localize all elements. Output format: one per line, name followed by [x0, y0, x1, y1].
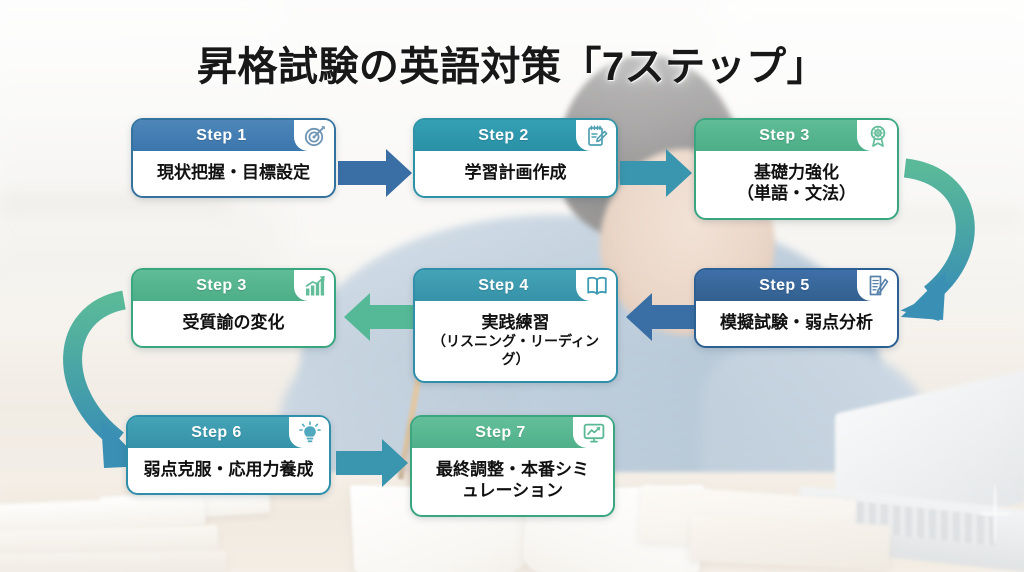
step-card-body: 現状把握・目標設定 — [133, 151, 334, 196]
infographic-canvas: 昇格試験の英語対策「7ステップ」 — [0, 0, 1024, 572]
step-title: 現状把握・目標設定 — [141, 162, 326, 183]
step-card-header: Step 3 — [696, 120, 897, 151]
step-card-body: 模擬試験・弱点分析 — [696, 301, 897, 346]
step-card-step-6[interactable]: Step 6 弱点克服・応用力養成 — [126, 415, 331, 495]
bar-chart-growth-icon — [302, 273, 328, 299]
ribbon-award-icon — [865, 123, 891, 149]
step-label: Step 2 — [478, 127, 528, 145]
step-title: 弱点克服・応用力養成 — [136, 459, 321, 480]
step-subtitle: ュレーション — [420, 480, 605, 501]
step-card-body: 実践練習 （リスニング・リーディング） — [415, 301, 616, 381]
monitor-chart-icon — [581, 420, 607, 446]
step-card-step-1[interactable]: Step 1 現状把握・目標設定 — [131, 118, 336, 198]
step-card-step-7[interactable]: Step 7 最終調整・本番シミ ュレーション — [410, 415, 615, 517]
step-card-header: Step 1 — [133, 120, 334, 151]
step-card-step-2[interactable]: Step 2 学習計画作成 — [413, 118, 618, 198]
open-book-icon — [584, 273, 610, 299]
step-label: Step 7 — [475, 424, 525, 442]
step-card-body: 最終調整・本番シミ ュレーション — [412, 448, 613, 515]
step-card-header: Step 6 — [128, 417, 329, 448]
step-card-body: 受質諭の変化 — [133, 301, 334, 346]
step-label: Step 4 — [478, 277, 528, 295]
step-card-step-5[interactable]: Step 5 模擬試験・弱点分析 — [694, 268, 899, 348]
step-label: Step 6 — [191, 424, 241, 442]
step-card-header: Step 4 — [415, 270, 616, 301]
step-title: 模擬試験・弱点分析 — [704, 312, 889, 333]
step-card-header: Step 7 — [412, 417, 613, 448]
page-title: 昇格試験の英語対策「7ステップ」 — [0, 34, 1024, 92]
step-title: 受質諭の変化 — [141, 312, 326, 333]
notepad-pencil-icon — [584, 123, 610, 149]
step-subtitle: （単語・文法） — [704, 183, 889, 204]
step-label: Step 5 — [759, 277, 809, 295]
step-card-step-3b[interactable]: Step 3 受質諭の変化 — [131, 268, 336, 348]
lightbulb-idea-icon — [297, 420, 323, 446]
step-card-step-3[interactable]: Step 3 基礎力強化 （単語・文法） — [694, 118, 899, 220]
target-icon — [302, 123, 328, 149]
step-label: Step 1 — [196, 127, 246, 145]
step-card-header: Step 3 — [133, 270, 334, 301]
step-subtitle: （リスニング・リーディング） — [423, 333, 608, 368]
step-label: Step 3 — [759, 127, 809, 145]
step-card-body: 学習計画作成 — [415, 151, 616, 196]
step-title: 実践練習 — [423, 312, 608, 333]
step-title: 最終調整・本番シミ — [420, 459, 605, 480]
step-card-step-4[interactable]: Step 4 実践練習 （リスニング・リーディング） — [413, 268, 618, 383]
sparkle-decoration — [978, 484, 1012, 544]
step-card-header: Step 2 — [415, 120, 616, 151]
checklist-pencil-icon — [865, 273, 891, 299]
step-card-body: 弱点克服・応用力養成 — [128, 448, 329, 493]
step-label: Step 3 — [196, 277, 246, 295]
step-title: 基礎力強化 — [704, 162, 889, 183]
step-card-body: 基礎力強化 （単語・文法） — [696, 151, 897, 218]
step-card-header: Step 5 — [696, 270, 897, 301]
step-title: 学習計画作成 — [423, 162, 608, 183]
